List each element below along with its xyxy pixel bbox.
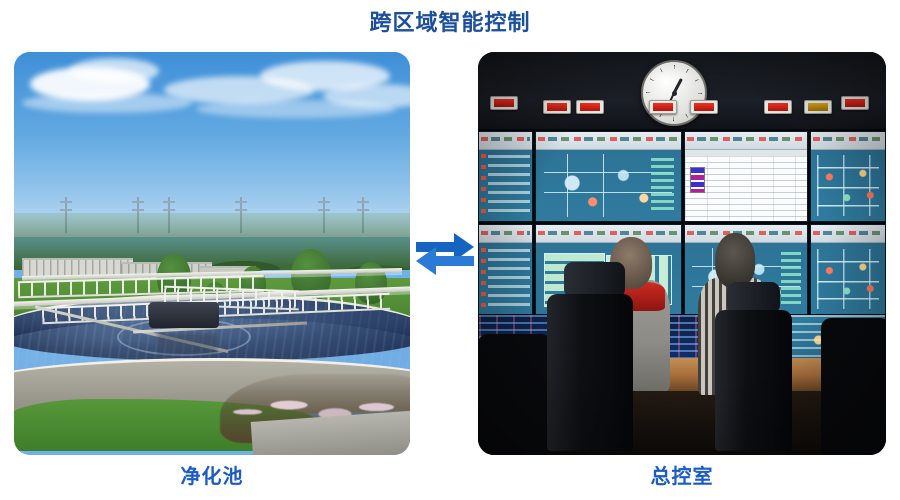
screen-content xyxy=(479,150,532,222)
figure-purification-basin[interactable] xyxy=(14,52,410,455)
photo-purification-basin xyxy=(14,52,410,455)
led-indicator-sign-amber xyxy=(804,100,832,114)
led-indicator-sign xyxy=(649,100,677,114)
cloud xyxy=(196,100,396,118)
video-wall-screen xyxy=(478,131,533,223)
video-wall-screen-spreadsheet xyxy=(684,131,808,223)
page-title: 跨区域智能控制 xyxy=(0,8,900,38)
led-indicator-sign xyxy=(490,96,518,110)
video-wall-screen xyxy=(478,224,533,316)
screen-titlebar xyxy=(536,132,681,150)
screen-titlebar xyxy=(479,132,532,150)
screen-content xyxy=(479,243,532,315)
photo-master-control-room xyxy=(478,52,886,455)
video-wall-screen xyxy=(810,131,886,223)
screen-content xyxy=(811,243,885,315)
video-wall-screen xyxy=(810,224,886,316)
led-indicator-sign xyxy=(690,100,718,114)
figure-master-control-room[interactable] xyxy=(478,52,886,455)
screen-titlebar xyxy=(811,225,885,243)
wall-clock-icon xyxy=(641,60,707,126)
office-chair-headrest xyxy=(564,262,625,298)
scada-video-wall xyxy=(478,129,886,318)
led-indicator-sign xyxy=(576,100,604,114)
led-indicator-sign xyxy=(764,100,792,114)
caption-master-control-room: 总控室 xyxy=(478,462,886,492)
office-chair xyxy=(821,318,886,455)
office-chair xyxy=(547,294,633,451)
led-indicator-sign xyxy=(543,100,571,114)
scraper-drive-hub xyxy=(149,302,219,328)
screen-content xyxy=(685,150,807,222)
screen-content xyxy=(811,150,885,222)
video-wall-screen xyxy=(535,131,682,223)
office-chair xyxy=(715,310,793,451)
screen-content xyxy=(536,150,681,222)
office-chair xyxy=(478,334,551,455)
screen-titlebar xyxy=(811,132,885,150)
screen-titlebar xyxy=(479,225,532,243)
led-indicator-sign xyxy=(841,96,869,110)
cloud xyxy=(22,93,192,113)
cloud xyxy=(69,58,159,84)
screen-titlebar xyxy=(685,132,807,150)
operator-head xyxy=(715,233,755,288)
sky-region xyxy=(14,52,410,237)
bidirectional-exchange-arrow xyxy=(414,228,476,278)
caption-purification-basin: 净化池 xyxy=(14,462,410,492)
clock-center-pin xyxy=(672,91,677,96)
